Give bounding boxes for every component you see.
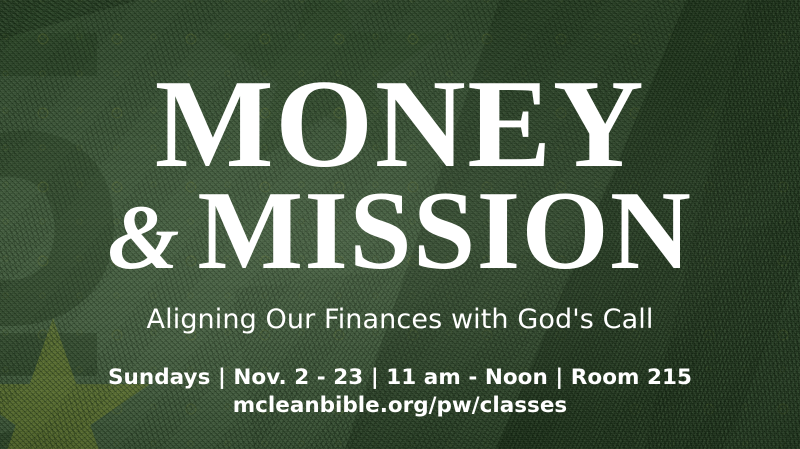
title-line-mission: MISSION bbox=[197, 184, 692, 278]
registration-url[interactable]: mcleanbible.org/pw/classes bbox=[233, 393, 568, 418]
poster-content: MONEY & MISSION Aligning Our Finances wi… bbox=[0, 0, 800, 449]
title-line-mission-row: & MISSION bbox=[0, 184, 800, 278]
money-and-mission-promo-graphic: 5 MONEY & MISSION Aligning Our Finances … bbox=[0, 0, 800, 449]
event-schedule-line: Sundays | Nov. 2 - 23 | 11 am - Noon | R… bbox=[108, 365, 692, 390]
title-line-money: MONEY bbox=[0, 72, 800, 178]
event-details-block: Sundays | Nov. 2 - 23 | 11 am - Noon | R… bbox=[108, 365, 692, 418]
title-block: MONEY & MISSION bbox=[0, 72, 800, 278]
poster-subtitle: Aligning Our Finances with God's Call bbox=[147, 304, 654, 335]
title-ampersand: & bbox=[108, 199, 180, 276]
